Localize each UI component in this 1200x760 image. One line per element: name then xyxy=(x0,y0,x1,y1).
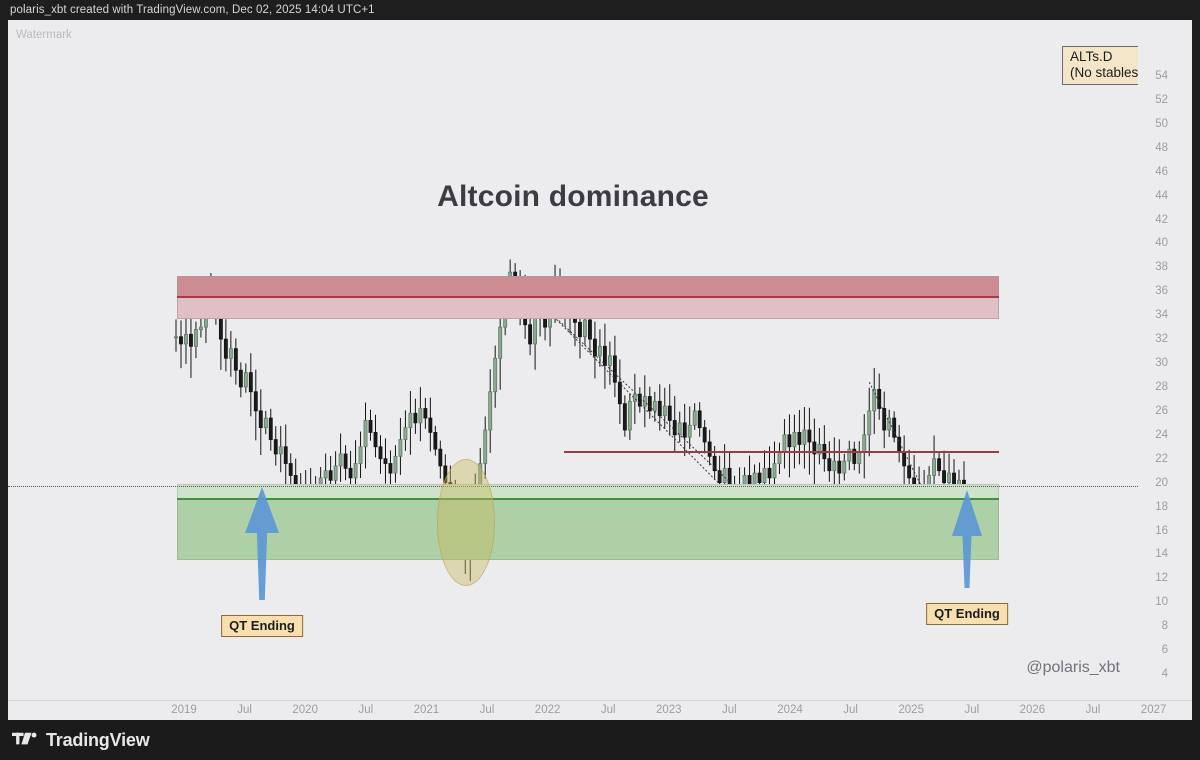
attribution-bar: polaris_xbt created with TradingView.com… xyxy=(0,0,1200,20)
price-axis-tick: 14 xyxy=(1155,548,1168,560)
time-axis-tick: 2022 xyxy=(535,704,561,716)
price-axis-tick: 10 xyxy=(1155,596,1168,608)
time-axis-tick: 2026 xyxy=(1020,704,1046,716)
time-axis-tick: Jul xyxy=(480,704,495,716)
qt-ending-arrow-right[interactable] xyxy=(952,490,982,588)
price-axis-tick: 36 xyxy=(1155,285,1168,297)
price-axis-tick: 18 xyxy=(1155,501,1168,513)
time-axis-tick: 2023 xyxy=(656,704,682,716)
footer-bar: TradingView xyxy=(0,720,1200,760)
time-axis-tick: 2019 xyxy=(171,704,197,716)
time-axis-tick: Jul xyxy=(237,704,252,716)
annotation-arrows xyxy=(8,20,1138,700)
price-axis-tick: 24 xyxy=(1155,429,1168,441)
time-axis-tick: Jul xyxy=(1086,704,1101,716)
price-axis-tick: 8 xyxy=(1162,620,1168,632)
attribution-text: polaris_xbt created with TradingView.com… xyxy=(10,4,375,16)
price-axis-tick: 40 xyxy=(1155,237,1168,249)
qt-ending-label[interactable]: QT Ending xyxy=(926,603,1008,625)
price-axis-tick: 44 xyxy=(1155,190,1168,202)
price-axis-tick: 38 xyxy=(1155,261,1168,273)
tradingview-chart-screenshot: polaris_xbt created with TradingView.com… xyxy=(0,0,1200,760)
price-axis-tick: 48 xyxy=(1155,142,1168,154)
price-axis-tick: 4 xyxy=(1162,668,1168,680)
time-axis-tick: Jul xyxy=(601,704,616,716)
time-axis-tick: Jul xyxy=(722,704,737,716)
chart-plot-area[interactable]: Watermark Altcoin dominance @polaris_xbt… xyxy=(8,20,1138,700)
price-axis-tick: 16 xyxy=(1155,525,1168,537)
symbol-legend[interactable]: ALTs.D (No stables) xyxy=(1062,46,1138,85)
price-axis-tick: 50 xyxy=(1155,118,1168,130)
chart-container: Watermark Altcoin dominance @polaris_xbt… xyxy=(8,20,1192,720)
qt-ending-label[interactable]: QT Ending xyxy=(221,615,303,637)
time-axis-tick: 2020 xyxy=(292,704,318,716)
time-axis-tick: 2027 xyxy=(1141,704,1167,716)
price-axis-tick: 12 xyxy=(1155,572,1168,584)
time-axis-tick: Jul xyxy=(964,704,979,716)
time-axis-tick: Jul xyxy=(843,704,858,716)
price-axis-tick: 34 xyxy=(1155,309,1168,321)
price-axis-tick: 22 xyxy=(1155,453,1168,465)
price-axis-tick: 30 xyxy=(1155,357,1168,369)
price-axis[interactable]: 5452504846444240383634323028262422201816… xyxy=(1138,20,1192,700)
price-axis-tick: 32 xyxy=(1155,333,1168,345)
price-axis-tick: 20 xyxy=(1155,477,1168,489)
time-axis-tick: 2021 xyxy=(414,704,440,716)
qt-ending-arrow-left[interactable] xyxy=(245,487,279,600)
price-axis-tick: 6 xyxy=(1162,644,1168,656)
price-axis-tick: 46 xyxy=(1155,166,1168,178)
time-axis-tick: 2025 xyxy=(898,704,924,716)
price-axis-tick: 52 xyxy=(1155,94,1168,106)
time-axis-tick: Jul xyxy=(358,704,373,716)
legend-subtitle: (No stables) xyxy=(1070,65,1138,81)
price-axis-tick: 54 xyxy=(1155,70,1168,82)
tradingview-wordmark: TradingView xyxy=(46,730,150,751)
legend-symbol: ALTs.D xyxy=(1070,49,1138,65)
price-axis-tick: 26 xyxy=(1155,405,1168,417)
price-axis-tick: 42 xyxy=(1155,214,1168,226)
tradingview-logo-icon xyxy=(12,731,38,749)
time-axis-tick: 2024 xyxy=(777,704,803,716)
price-axis-tick: 28 xyxy=(1155,381,1168,393)
time-axis[interactable]: 2019Jul2020Jul2021Jul2022Jul2023Jul2024J… xyxy=(8,700,1192,720)
